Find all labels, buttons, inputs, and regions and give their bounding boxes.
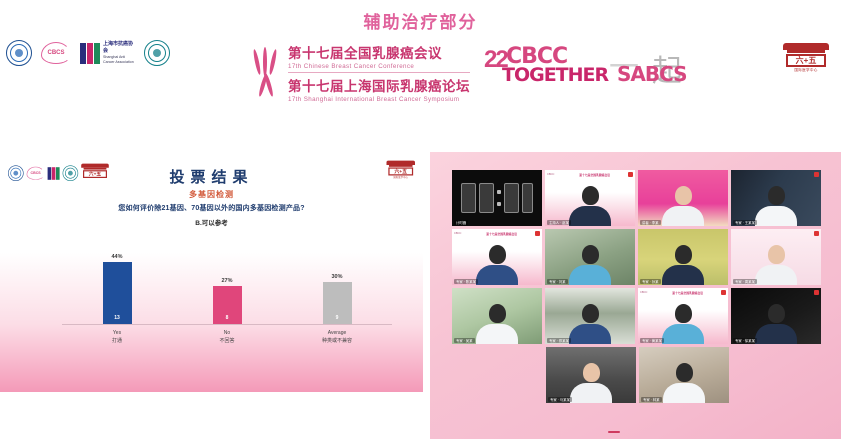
participant-silhouette bbox=[662, 186, 704, 226]
slide-title: 投票结果 bbox=[0, 166, 423, 187]
bar-value-label: 30% bbox=[331, 274, 342, 280]
head-shape bbox=[768, 245, 785, 264]
gate-body-label: 六+五 bbox=[786, 54, 826, 67]
body-shape bbox=[755, 265, 797, 285]
participant-silhouette bbox=[476, 304, 518, 344]
participant-tile[interactable]: 专家 · 林某 bbox=[639, 347, 729, 403]
participant-tile[interactable]: CBCC第十七届全国乳腺癌会议专家 · 黄某某 bbox=[638, 288, 728, 344]
body-shape bbox=[663, 383, 705, 403]
video-conference-panel: 计时器CBCC第十七届全国乳腺癌会议主持人 · 赵某讲者 · 李某专家 · 王某… bbox=[430, 152, 841, 439]
participant-silhouette bbox=[755, 304, 797, 344]
video-grid-row: 专家 · 马某某专家 · 林某 bbox=[452, 347, 823, 403]
timer-tile[interactable]: 计时器 bbox=[452, 170, 542, 226]
tile-virtual-banner: CBCC第十七届全国乳腺癌会议 bbox=[545, 170, 635, 179]
head-shape bbox=[582, 186, 599, 205]
cbcs-oval-icon: CBCS bbox=[41, 42, 71, 64]
timer-digit bbox=[461, 183, 476, 213]
participant-silhouette bbox=[662, 304, 704, 344]
head-shape bbox=[582, 245, 599, 264]
presentation-slide[interactable]: CBCS 六+五 六+五 国际医学中心 投票结果 多基因检测 您如何评价除21基… bbox=[0, 152, 423, 392]
participant-tile[interactable]: 专家 · 刘某 bbox=[545, 229, 635, 285]
chart-bar-column: 27%8 bbox=[187, 278, 267, 324]
category-label-en: Average bbox=[297, 330, 377, 336]
tile-virtual-banner: CBCC第十七届全国乳腺癌会议 bbox=[452, 229, 542, 238]
conference-en-line1: 17th Chinese Breast Cancer Conference bbox=[288, 63, 470, 70]
chart-category-label: Yes打通 bbox=[77, 327, 157, 347]
participant-tile[interactable]: 专家 · 王某某 bbox=[731, 170, 821, 226]
participant-tile[interactable]: 专家 · 周某某 bbox=[731, 229, 821, 285]
category-label-cn: 不回答 bbox=[187, 337, 267, 344]
aca-bars-icon bbox=[80, 43, 100, 64]
banner-left-text: CBCC bbox=[454, 232, 461, 235]
chart-bar-column: 30%9 bbox=[297, 274, 377, 324]
participant-silhouette bbox=[662, 245, 704, 285]
conference-titles: 第十七届全国乳腺癌会议 17th Chinese Breast Cancer C… bbox=[288, 42, 470, 103]
banner-center-text: 第十七届全国乳腺癌会议 bbox=[486, 232, 517, 236]
bar-count-label: 8 bbox=[226, 315, 229, 321]
body-shape bbox=[755, 324, 797, 344]
participant-name-label: 专家 · 陈某某 bbox=[454, 279, 478, 284]
page-header: 辅助治疗部分 CBCS 上海市抗癌协会Shanghai Anti Cancer … bbox=[0, 0, 841, 125]
sabcs-word: SABCS bbox=[617, 62, 687, 86]
chart-axis-line bbox=[62, 324, 392, 325]
timer-digit bbox=[504, 183, 519, 213]
head-shape bbox=[675, 304, 692, 323]
bar-rect: 9 bbox=[323, 282, 352, 324]
participant-tile[interactable]: 专家 · 孙某 bbox=[638, 229, 728, 285]
head-shape bbox=[768, 304, 785, 323]
organization-logos: CBCS 上海市抗癌协会Shanghai Anti Cancer Associa… bbox=[6, 40, 170, 66]
video-grid-row: 专家 · 吴某专家 · 郑某某CBCC第十七届全国乳腺癌会议专家 · 黄某某专家… bbox=[452, 288, 823, 344]
chart-category-label: Average种类或不兼容 bbox=[297, 327, 377, 347]
category-label-cn: 种类或不兼容 bbox=[297, 337, 377, 344]
participant-tile[interactable]: 专家 · 马某某 bbox=[546, 347, 636, 403]
cbcc-sabcs-logo: 一 起 22 CBCC TOGETHER SABCS bbox=[484, 42, 689, 97]
chart-category-label: No不回答 bbox=[187, 327, 267, 347]
head-shape bbox=[489, 304, 506, 323]
head-shape bbox=[489, 245, 506, 264]
head-shape bbox=[675, 186, 692, 205]
participant-tile[interactable]: CBCC第十七届全国乳腺癌会议主持人 · 赵某 bbox=[545, 170, 635, 226]
participant-tile[interactable]: 讲者 · 李某 bbox=[638, 170, 728, 226]
aca-mark-icon: 上海市抗癌协会Shanghai Anti Cancer Association bbox=[80, 41, 135, 64]
gate-sub-label: 国际医学中心 bbox=[783, 68, 829, 73]
category-label-en: Yes bbox=[77, 330, 157, 336]
participant-name-label: 专家 · 王某某 bbox=[733, 220, 757, 225]
mic-muted-icon bbox=[814, 172, 819, 177]
body-shape bbox=[755, 206, 797, 226]
mic-muted-icon bbox=[628, 172, 633, 177]
participant-tile[interactable]: CBCC第十七届全国乳腺癌会议专家 · 陈某某 bbox=[452, 229, 542, 285]
bar-value-label: 27% bbox=[221, 278, 232, 284]
participant-silhouette bbox=[476, 245, 518, 285]
chart-bar-column: 44%13 bbox=[77, 254, 157, 324]
banner-center-text: 第十七届全国乳腺癌会议 bbox=[579, 173, 610, 177]
participant-name-label: 专家 · 黄某某 bbox=[640, 338, 664, 343]
video-grid: 计时器CBCC第十七届全国乳腺癌会议主持人 · 赵某讲者 · 李某专家 · 王某… bbox=[452, 170, 823, 406]
timer-digit bbox=[522, 183, 533, 213]
timer-label: 计时器 bbox=[454, 220, 468, 225]
participant-name-label: 专家 · 林某 bbox=[641, 397, 662, 402]
head-shape bbox=[768, 186, 785, 205]
society-seal-icon bbox=[144, 40, 170, 66]
body-shape bbox=[662, 206, 704, 226]
participant-tile[interactable]: 专家 · 郑某某 bbox=[545, 288, 635, 344]
mic-muted-icon bbox=[535, 231, 540, 236]
participant-silhouette bbox=[569, 304, 611, 344]
gate-roof2-icon bbox=[787, 50, 825, 53]
grid-page-indicator[interactable] bbox=[608, 431, 620, 433]
participant-name-label: 专家 · 徐某某 bbox=[733, 338, 757, 343]
participant-tile[interactable]: 专家 · 吴某 bbox=[452, 288, 542, 344]
participant-name-label: 专家 · 孙某 bbox=[640, 279, 661, 284]
body-shape bbox=[476, 324, 518, 344]
gate-logo-header: 六+五 国际医学中心 bbox=[783, 42, 829, 76]
conference-cn-line1: 第十七届全国乳腺癌会议 bbox=[288, 42, 470, 62]
participant-name-label: 专家 · 周某某 bbox=[733, 279, 757, 284]
body-shape bbox=[569, 206, 611, 226]
chart-bars: 44%1327%830%9 bbox=[62, 246, 392, 324]
aca-label: 上海市抗癌协会Shanghai Anti Cancer Association bbox=[103, 41, 135, 64]
vote-bar-chart: 44%1327%830%9 Yes打通No不回答Average种类或不兼容 bbox=[30, 247, 393, 347]
video-grid-row: CBCC第十七届全国乳腺癌会议专家 · 陈某某专家 · 刘某专家 · 孙某专家 … bbox=[452, 229, 823, 285]
tile-virtual-banner: CBCC第十七届全国乳腺癌会议 bbox=[638, 288, 728, 297]
conference-cn-line2: 第十七届上海国际乳腺癌论坛 bbox=[288, 75, 470, 95]
category-label-en: No bbox=[187, 330, 267, 336]
participant-name-label: 专家 · 刘某 bbox=[547, 279, 568, 284]
bar-rect: 13 bbox=[103, 262, 132, 324]
participant-silhouette bbox=[570, 363, 612, 403]
cbcc-together: TOGETHER bbox=[502, 64, 608, 86]
slide-answer: B.可以参考 bbox=[0, 217, 423, 227]
bar-value-label: 44% bbox=[111, 254, 122, 260]
body-shape bbox=[662, 265, 704, 285]
participant-silhouette bbox=[755, 245, 797, 285]
participant-silhouette bbox=[755, 186, 797, 226]
divider bbox=[288, 72, 470, 73]
body-shape bbox=[476, 265, 518, 285]
bar-count-label: 13 bbox=[114, 315, 120, 321]
bar-count-label: 9 bbox=[336, 315, 339, 321]
banner-left-text: CBCC bbox=[547, 173, 554, 176]
bar-rect: 8 bbox=[213, 286, 242, 324]
timer-digit bbox=[479, 183, 494, 213]
slide-question: 您如何评价除21基因、70基因以外的国内多基因检测产品? bbox=[0, 203, 423, 213]
body-shape bbox=[662, 324, 704, 344]
participant-name-label: 专家 · 马某某 bbox=[548, 397, 572, 402]
head-shape bbox=[582, 304, 599, 323]
participant-tile[interactable]: 专家 · 徐某某 bbox=[731, 288, 821, 344]
head-shape bbox=[583, 363, 600, 382]
conference-en-line2: 17th Shanghai International Breast Cance… bbox=[288, 96, 470, 103]
cma-seal-icon bbox=[6, 40, 32, 66]
body-shape bbox=[570, 383, 612, 403]
chart-category-labels: Yes打通No不回答Average种类或不兼容 bbox=[62, 327, 392, 347]
gate-roof-icon bbox=[783, 43, 829, 50]
body-shape bbox=[569, 324, 611, 344]
mic-muted-icon bbox=[814, 231, 819, 236]
tulip-ribbon-icon bbox=[253, 47, 283, 99]
participant-name-label: 讲者 · 李某 bbox=[640, 220, 661, 225]
banner-left-text: CBCC bbox=[640, 291, 647, 294]
screen-root: 辅助治疗部分 CBCS 上海市抗癌协会Shanghai Anti Cancer … bbox=[0, 0, 841, 439]
video-grid-row: 计时器CBCC第十七届全国乳腺癌会议主持人 · 赵某讲者 · 李某专家 · 王某… bbox=[452, 170, 823, 226]
participant-name-label: 专家 · 吴某 bbox=[454, 338, 475, 343]
mic-muted-icon bbox=[814, 290, 819, 295]
session-title: 辅助治疗部分 bbox=[0, 8, 841, 33]
mic-muted-icon bbox=[721, 290, 726, 295]
participant-name-label: 专家 · 郑某某 bbox=[547, 338, 571, 343]
participant-silhouette bbox=[569, 186, 611, 226]
participant-silhouette bbox=[569, 245, 611, 285]
body-shape bbox=[569, 265, 611, 285]
participant-silhouette bbox=[663, 363, 705, 403]
timer-colon-icon bbox=[497, 190, 501, 206]
head-shape bbox=[676, 363, 693, 382]
category-label-cn: 打通 bbox=[77, 337, 157, 344]
participant-name-label: 主持人 · 赵某 bbox=[547, 220, 571, 225]
conference-logo: 第十七届全国乳腺癌会议 17th Chinese Breast Cancer C… bbox=[253, 42, 470, 103]
head-shape bbox=[675, 245, 692, 264]
slide-subtitle: 多基因检测 bbox=[0, 189, 423, 200]
banner-center-text: 第十七届全国乳腺癌会议 bbox=[672, 291, 703, 295]
